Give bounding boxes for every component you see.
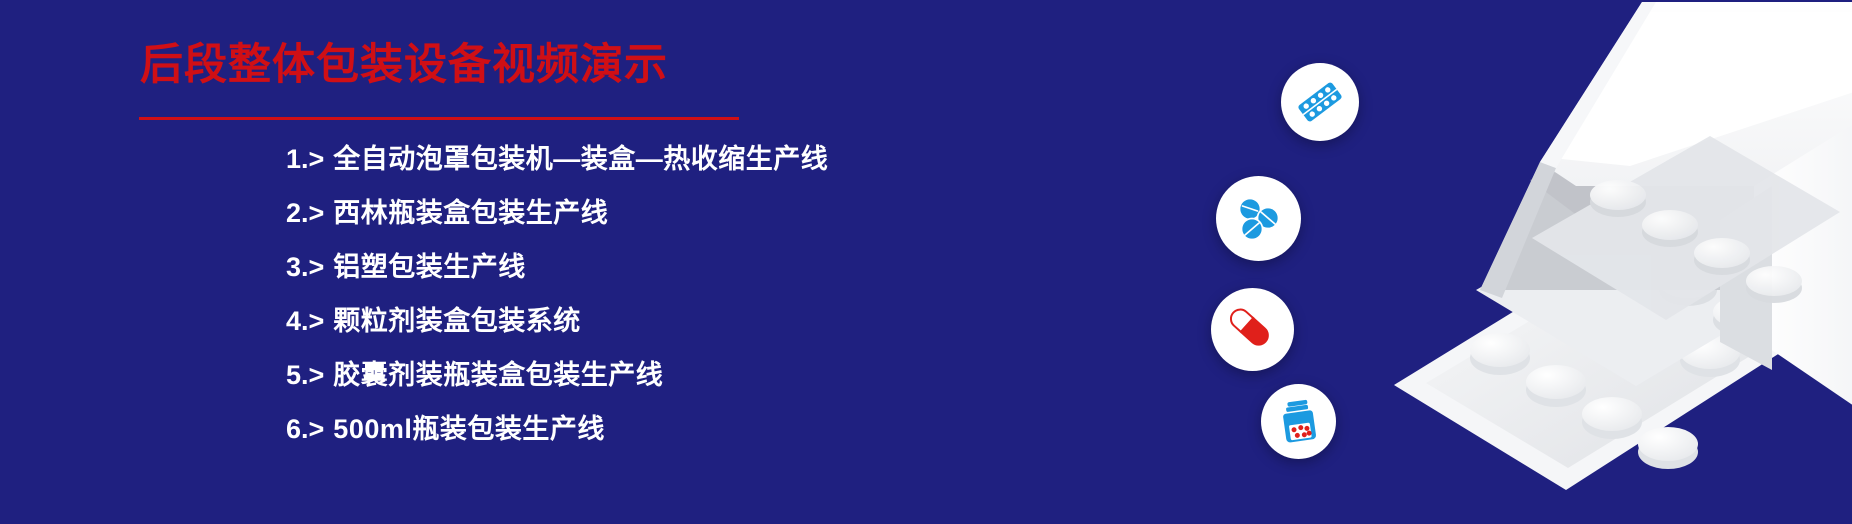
- list-item-number: 1.>: [286, 132, 324, 186]
- list-item[interactable]: 3.> 铝塑包装生产线: [286, 240, 1046, 294]
- tablets-icon: [1216, 176, 1301, 261]
- blister-pack-glyph: [1292, 74, 1348, 130]
- promo-banner: 后段整体包装设备视频演示 1.> 全自动泡罩包装机—装盒—热收缩生产线 2.> …: [0, 0, 1852, 524]
- list-item-label: 颗粒剂装盒包装系统: [333, 294, 581, 348]
- list-item-label: 西林瓶装盒包装生产线: [333, 186, 608, 240]
- list-item-number: 6.>: [286, 402, 324, 456]
- capsule-glyph: [1225, 302, 1281, 358]
- list-item[interactable]: 2.> 西林瓶装盒包装生产线: [286, 186, 1046, 240]
- list-item-number: 5.>: [286, 348, 324, 402]
- pill-bottle-icon: [1261, 384, 1336, 459]
- video-list: 1.> 全自动泡罩包装机—装盒—热收缩生产线 2.> 西林瓶装盒包装生产线 3.…: [286, 132, 1046, 456]
- list-item-label: 全自动泡罩包装机—装盒—热收缩生产线: [333, 132, 828, 186]
- list-item-label: 胶囊剂装瓶装盒包装生产线: [333, 348, 663, 402]
- list-item-number: 2.>: [286, 186, 324, 240]
- list-item-label: 500ml瓶装包装生产线: [333, 402, 605, 456]
- list-item[interactable]: 5.> 胶囊剂装瓶装盒包装生产线: [286, 348, 1046, 402]
- list-item-number: 3.>: [286, 240, 324, 294]
- list-item[interactable]: 4.> 颗粒剂装盒包装系统: [286, 294, 1046, 348]
- list-item[interactable]: 6.> 500ml瓶装包装生产线: [286, 402, 1046, 456]
- title-underline: [139, 117, 739, 120]
- list-item-number: 4.>: [286, 294, 324, 348]
- pill-bottle-glyph: [1274, 396, 1324, 448]
- blister-pack-icon: [1281, 63, 1359, 141]
- list-item[interactable]: 1.> 全自动泡罩包装机—装盒—热收缩生产线: [286, 132, 1046, 186]
- tablets-glyph: [1230, 190, 1288, 248]
- capsule-icon: [1211, 288, 1294, 371]
- list-item-label: 铝塑包装生产线: [333, 240, 526, 294]
- page-title: 后段整体包装设备视频演示: [140, 44, 668, 87]
- carton-with-blister-packs: [1380, 0, 1852, 524]
